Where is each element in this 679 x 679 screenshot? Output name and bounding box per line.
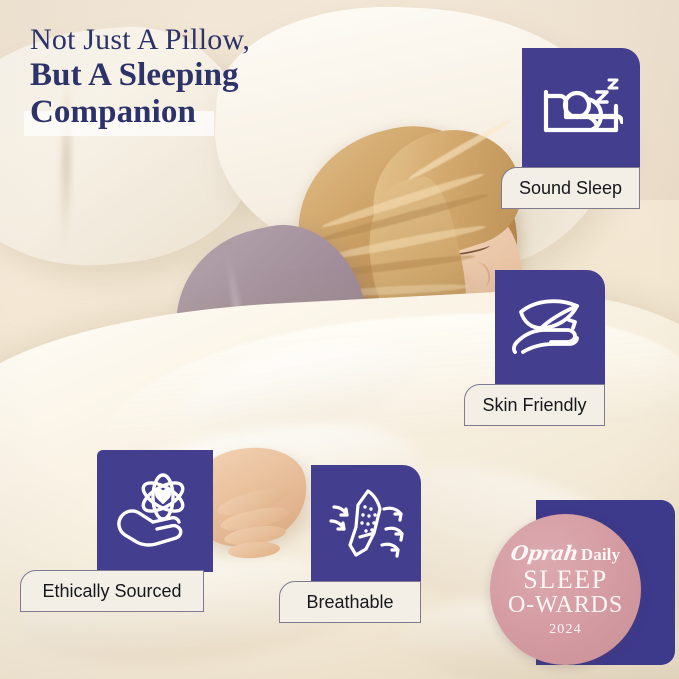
award-seal-year: 2024	[549, 622, 582, 638]
feature-label-skin-friendly: Skin Friendly	[464, 384, 605, 426]
award-seal-line-1: SLEEP	[523, 567, 608, 594]
feature-badge-ethically-sourced: Ethically Sourced	[97, 450, 213, 612]
headline-line-1: Not Just A Pillow,	[30, 24, 360, 56]
hand-holding-atom-heart-icon	[97, 450, 213, 572]
person-sleeping-in-bed-icon	[522, 48, 640, 169]
hand-holding-leaf-icon	[495, 270, 605, 386]
feature-label-breathable: Breathable	[279, 581, 421, 623]
feature-badge-sound-sleep: Sound Sleep	[522, 48, 640, 209]
oprah-script-logo: Oprah	[509, 541, 579, 565]
feature-label-ethically-sourced: Ethically Sourced	[20, 570, 204, 612]
feature-badge-breathable: Breathable	[311, 465, 421, 623]
headline: Not Just A Pillow, But A Sleeping Compan…	[30, 24, 360, 130]
award-seal-brand: Oprah Daily	[511, 541, 620, 565]
product-feature-image: Not Just A Pillow, But A Sleeping Compan…	[0, 0, 679, 679]
headline-line-3: Companion	[30, 95, 210, 130]
headline-line-2: But A Sleeping	[30, 58, 360, 93]
award-seal-circle: Oprah Daily SLEEP O-WARDS 2024	[490, 514, 641, 665]
feature-badge-skin-friendly: Skin Friendly	[495, 270, 605, 426]
award-seal-line-2: O-WARDS	[508, 593, 623, 617]
feature-label-sound-sleep: Sound Sleep	[501, 167, 640, 209]
award-seal: Oprah Daily SLEEP O-WARDS 2024	[490, 500, 675, 670]
award-seal-brand-word: Daily	[581, 545, 620, 565]
fabric-airflow-arrows-icon	[311, 465, 421, 583]
